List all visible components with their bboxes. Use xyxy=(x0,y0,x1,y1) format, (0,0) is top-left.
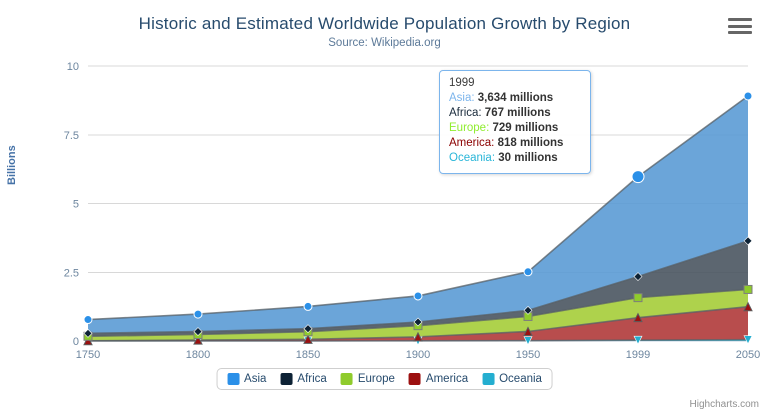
tooltip-row: Oceania: 30 millions xyxy=(449,151,581,166)
x-axis-tick-label: 2050 xyxy=(736,349,760,361)
y-axis-tick-label: 5 xyxy=(73,199,79,211)
tooltip-series-value: 3,634 millions xyxy=(478,92,553,104)
data-point-asia[interactable] xyxy=(414,292,422,300)
x-axis-tick-label: 1750 xyxy=(76,349,100,361)
tooltip-series-value: 729 millions xyxy=(492,122,558,134)
tooltip-series-value: 30 millions xyxy=(498,152,557,164)
legend-swatch-icon xyxy=(227,373,239,385)
tooltip-series-value: 767 millions xyxy=(485,107,551,119)
highcharts-credit[interactable]: Highcharts.com xyxy=(690,399,759,410)
legend-swatch-icon xyxy=(280,373,292,385)
tooltip-row: Europe: 729 millions xyxy=(449,121,581,136)
tooltip-row: Africa: 767 millions xyxy=(449,106,581,121)
y-axis-tick-label: 7.5 xyxy=(64,130,79,142)
tooltip-series-name: America: xyxy=(449,137,498,149)
y-axis-tick-label: 2.5 xyxy=(64,267,79,279)
legend-label: Africa xyxy=(297,373,326,385)
tooltip-series-value: 818 millions xyxy=(498,137,564,149)
legend-swatch-icon xyxy=(341,373,353,385)
tooltip: 1999 Asia: 3,634 millionsAfrica: 767 mil… xyxy=(439,70,591,174)
data-point-asia[interactable] xyxy=(304,302,312,310)
data-point-asia[interactable] xyxy=(194,310,202,318)
legend-swatch-icon xyxy=(482,373,494,385)
y-axis-tick-label: 0 xyxy=(73,336,79,348)
tooltip-row: Asia: 3,634 millions xyxy=(449,91,581,106)
tooltip-header: 1999 xyxy=(449,77,581,89)
data-point-asia[interactable] xyxy=(632,171,644,183)
data-point-asia[interactable] xyxy=(84,316,92,324)
legend-label: Oceania xyxy=(499,373,542,385)
x-axis-tick-label: 1950 xyxy=(516,349,540,361)
x-axis-tick-label: 1900 xyxy=(406,349,430,361)
tooltip-row: America: 818 millions xyxy=(449,136,581,151)
tooltip-rows: Asia: 3,634 millionsAfrica: 767 millions… xyxy=(449,91,581,166)
legend-item-europe[interactable]: Europe xyxy=(341,373,395,385)
legend-label: America xyxy=(426,373,468,385)
chart-legend: AsiaAfricaEuropeAmericaOceania xyxy=(216,368,553,390)
legend-label: Europe xyxy=(358,373,395,385)
data-point-asia[interactable] xyxy=(524,268,532,276)
plot-area: 02.557.5101750180018501900195019992050 xyxy=(0,0,769,416)
highcharts-chart: Historic and Estimated Worldwide Populat… xyxy=(0,0,769,416)
tooltip-series-name: Asia: xyxy=(449,92,478,104)
legend-item-america[interactable]: America xyxy=(409,373,468,385)
x-axis-tick-label: 1800 xyxy=(186,349,210,361)
y-axis-tick-label: 10 xyxy=(67,61,79,73)
tooltip-series-name: Africa: xyxy=(449,107,485,119)
tooltip-series-name: Europe: xyxy=(449,122,492,134)
legend-item-oceania[interactable]: Oceania xyxy=(482,373,542,385)
data-point-europe[interactable] xyxy=(634,294,642,302)
x-axis-tick-label: 1850 xyxy=(296,349,320,361)
x-axis-tick-label: 1999 xyxy=(626,349,650,361)
legend-label: Asia xyxy=(244,373,266,385)
legend-item-africa[interactable]: Africa xyxy=(280,373,326,385)
data-point-asia[interactable] xyxy=(744,92,752,100)
legend-item-asia[interactable]: Asia xyxy=(227,373,266,385)
data-point-europe[interactable] xyxy=(744,285,752,293)
legend-swatch-icon xyxy=(409,373,421,385)
tooltip-series-name: Oceania: xyxy=(449,152,498,164)
